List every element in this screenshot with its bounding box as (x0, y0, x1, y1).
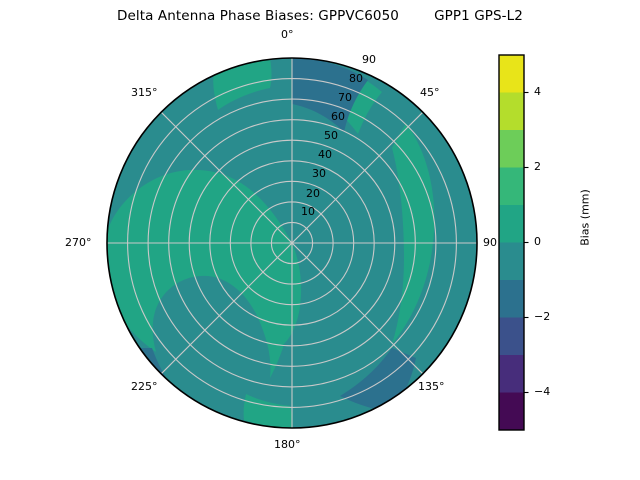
colorbar-tick-4: 4 (534, 85, 541, 98)
theta-tick-270: 270° (65, 236, 92, 249)
r-tick-60: 60 (331, 110, 345, 123)
theta-tick-135: 135° (418, 380, 445, 393)
theta-tick-45: 45° (420, 86, 440, 99)
polar-plot (0, 0, 640, 480)
colorbar-tick-2: 2 (534, 160, 541, 173)
colorbar-axis-label: Bias (mm) (579, 138, 592, 298)
colorbar-band-5 (499, 205, 524, 243)
colorbar-tick-neg2: −2 (534, 310, 550, 323)
r-tick-20: 20 (306, 187, 320, 200)
colorbar-band-0 (499, 393, 524, 431)
colorbar-tick-neg4: −4 (534, 385, 550, 398)
theta-tick-180: 180° (274, 438, 301, 451)
theta-tick-0: 0° (281, 28, 294, 41)
r-tick-50: 50 (324, 129, 338, 142)
theta-tick-90: 90 (483, 236, 497, 249)
r-tick-10: 10 (301, 205, 315, 218)
colorbar[interactable] (499, 55, 529, 430)
colorbar-band-7 (499, 130, 524, 168)
colorbar-band-8 (499, 93, 524, 131)
colorbar-band-9 (499, 55, 524, 93)
colorbar-band-3 (499, 280, 524, 318)
figure-canvas: Delta Antenna Phase Biases: GPPVC6050 GP… (0, 0, 640, 480)
theta-tick-225: 225° (131, 380, 158, 393)
theta-tick-315: 315° (131, 86, 158, 99)
r-tick-70: 70 (338, 91, 352, 104)
colorbar-band-2 (499, 318, 524, 356)
angular-gridlines (107, 58, 477, 428)
r-tick-30: 30 (312, 167, 326, 180)
r-tick-40: 40 (318, 148, 332, 161)
r-tick-90: 90 (362, 53, 376, 66)
colorbar-band-4 (499, 243, 524, 281)
r-tick-80: 80 (349, 72, 363, 85)
colorbar-tick-0: 0 (534, 235, 541, 248)
colorbar-band-1 (499, 355, 524, 393)
colorbar-band-6 (499, 168, 524, 206)
